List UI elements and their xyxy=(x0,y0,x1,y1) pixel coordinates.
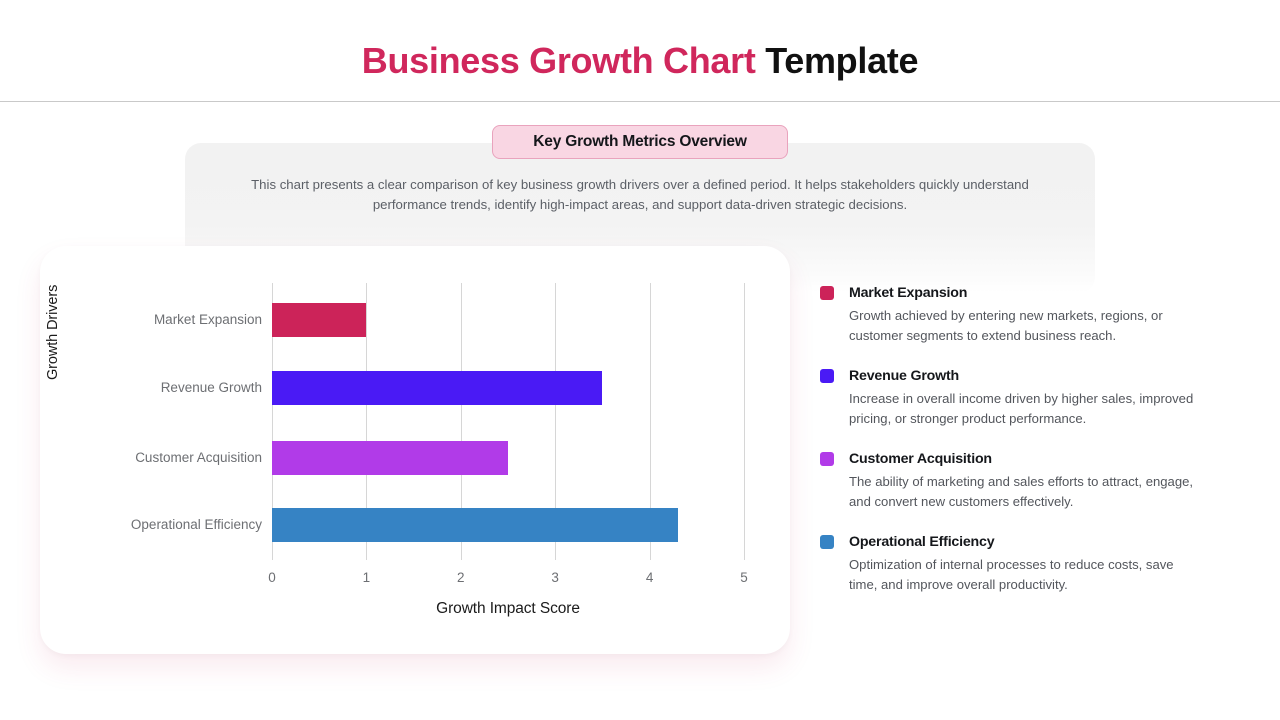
bar-row[interactable] xyxy=(272,371,602,405)
x-axis-title: Growth Impact Score xyxy=(272,600,744,618)
x-tick-label: 1 xyxy=(346,570,386,585)
legend-swatch-icon xyxy=(820,286,834,300)
y-tick-label: Market Expansion xyxy=(42,312,262,327)
page-title: Business Growth Chart Template xyxy=(0,40,1280,82)
gridline xyxy=(744,283,745,560)
page-title-accent: Business Growth Chart xyxy=(362,40,756,81)
legend-item[interactable]: Revenue GrowthIncrease in overall income… xyxy=(820,366,1212,428)
x-tick-label: 5 xyxy=(724,570,764,585)
bar-revenue-growth[interactable] xyxy=(272,371,602,405)
x-tick-label: 2 xyxy=(441,570,481,585)
legend-swatch-icon xyxy=(820,452,834,466)
bar-chart-plot-area xyxy=(272,283,744,560)
legend-item-description: The ability of marketing and sales effor… xyxy=(849,472,1201,511)
legend-item[interactable]: Market ExpansionGrowth achieved by enter… xyxy=(820,283,1212,345)
bar-customer-acquisition[interactable] xyxy=(272,441,508,475)
legend-item-title: Revenue Growth xyxy=(849,366,1212,386)
legend-item-description: Growth achieved by entering new markets,… xyxy=(849,306,1201,345)
legend-swatch-icon xyxy=(820,535,834,549)
y-tick-label: Operational Efficiency xyxy=(42,517,262,532)
legend-item[interactable]: Customer AcquisitionThe ability of marke… xyxy=(820,449,1212,511)
bar-operational-efficiency[interactable] xyxy=(272,508,678,542)
bar-row[interactable] xyxy=(272,441,508,475)
y-tick-label: Revenue Growth xyxy=(42,380,262,395)
status-badge-label: Key Growth Metrics Overview xyxy=(533,133,746,151)
bar-row[interactable] xyxy=(272,303,366,337)
legend-item-description: Optimization of internal processes to re… xyxy=(849,555,1201,594)
y-axis-tick-labels: Market ExpansionRevenue GrowthCustomer A… xyxy=(36,283,262,560)
bar-market-expansion[interactable] xyxy=(272,303,366,337)
header-divider xyxy=(0,101,1280,102)
legend-swatch-icon xyxy=(820,369,834,383)
y-tick-label: Customer Acquisition xyxy=(42,450,262,465)
chart-description: This chart presents a clear comparison o… xyxy=(228,175,1052,215)
legend-item-title: Customer Acquisition xyxy=(849,449,1212,469)
status-badge: Key Growth Metrics Overview xyxy=(492,125,788,159)
page-title-plain: Template xyxy=(756,40,919,81)
legend-item-title: Market Expansion xyxy=(849,283,1212,303)
legend-item-description: Increase in overall income driven by hig… xyxy=(849,389,1201,428)
legend-item[interactable]: Operational EfficiencyOptimization of in… xyxy=(820,532,1212,594)
x-tick-label: 3 xyxy=(535,570,575,585)
legend-item-title: Operational Efficiency xyxy=(849,532,1212,552)
x-tick-label: 0 xyxy=(252,570,292,585)
chart-legend: Market ExpansionGrowth achieved by enter… xyxy=(820,283,1212,615)
bar-row[interactable] xyxy=(272,508,678,542)
x-tick-label: 4 xyxy=(630,570,670,585)
